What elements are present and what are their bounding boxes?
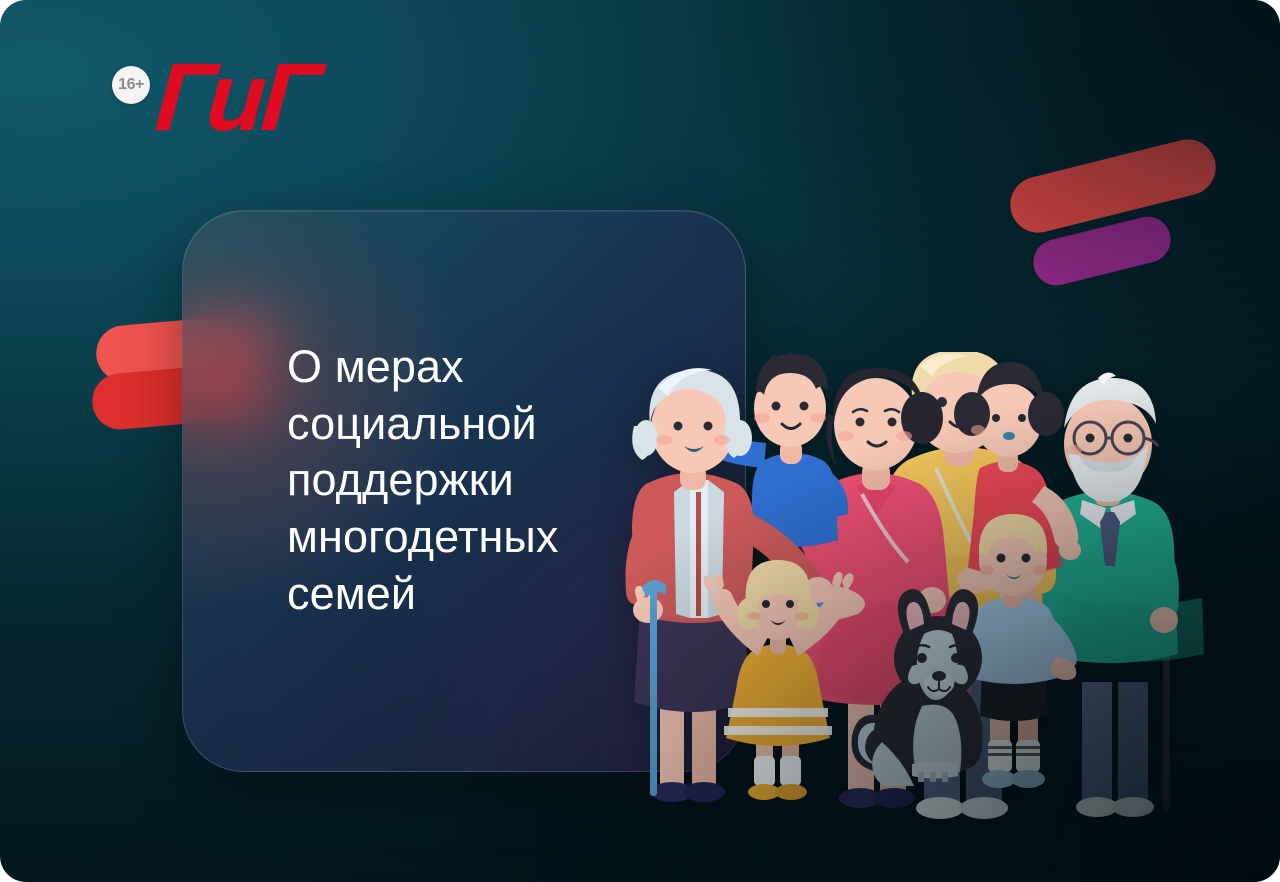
brand-wordmark: ГиГ [153,52,320,143]
age-rating-badge: 16+ [112,66,150,104]
decor-pill-top-red [1004,133,1221,238]
poster-canvas: 16+ ГиГ О мерах социальной поддержки мно… [0,0,1280,882]
family-illustration [612,352,1208,822]
brand-logo[interactable]: 16+ ГиГ [112,52,317,143]
